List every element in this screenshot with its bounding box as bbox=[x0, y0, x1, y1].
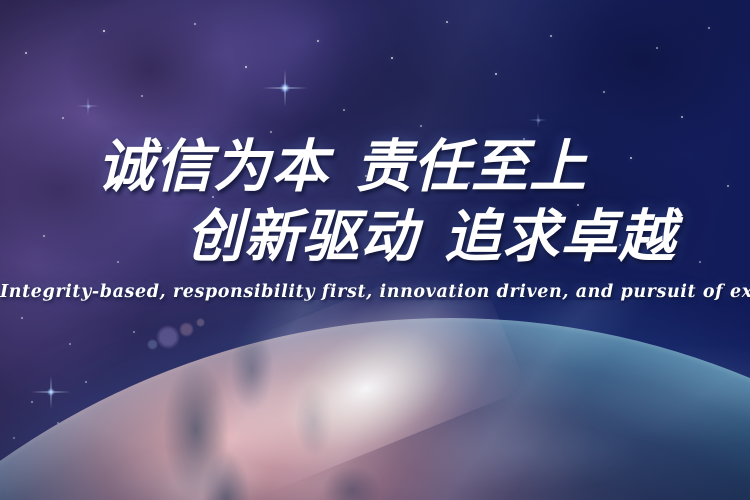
lens-flare-field bbox=[0, 0, 750, 500]
earth-scene bbox=[0, 0, 750, 500]
promotional-banner: 诚信为本责任至上 创新驱动追求卓越 Integrity-based, respo… bbox=[0, 0, 750, 500]
lens-flare-orb bbox=[147, 339, 158, 350]
lens-flare-orb bbox=[196, 318, 205, 327]
lens-flare-orb bbox=[156, 325, 180, 349]
lens-flare-orb bbox=[179, 322, 194, 337]
